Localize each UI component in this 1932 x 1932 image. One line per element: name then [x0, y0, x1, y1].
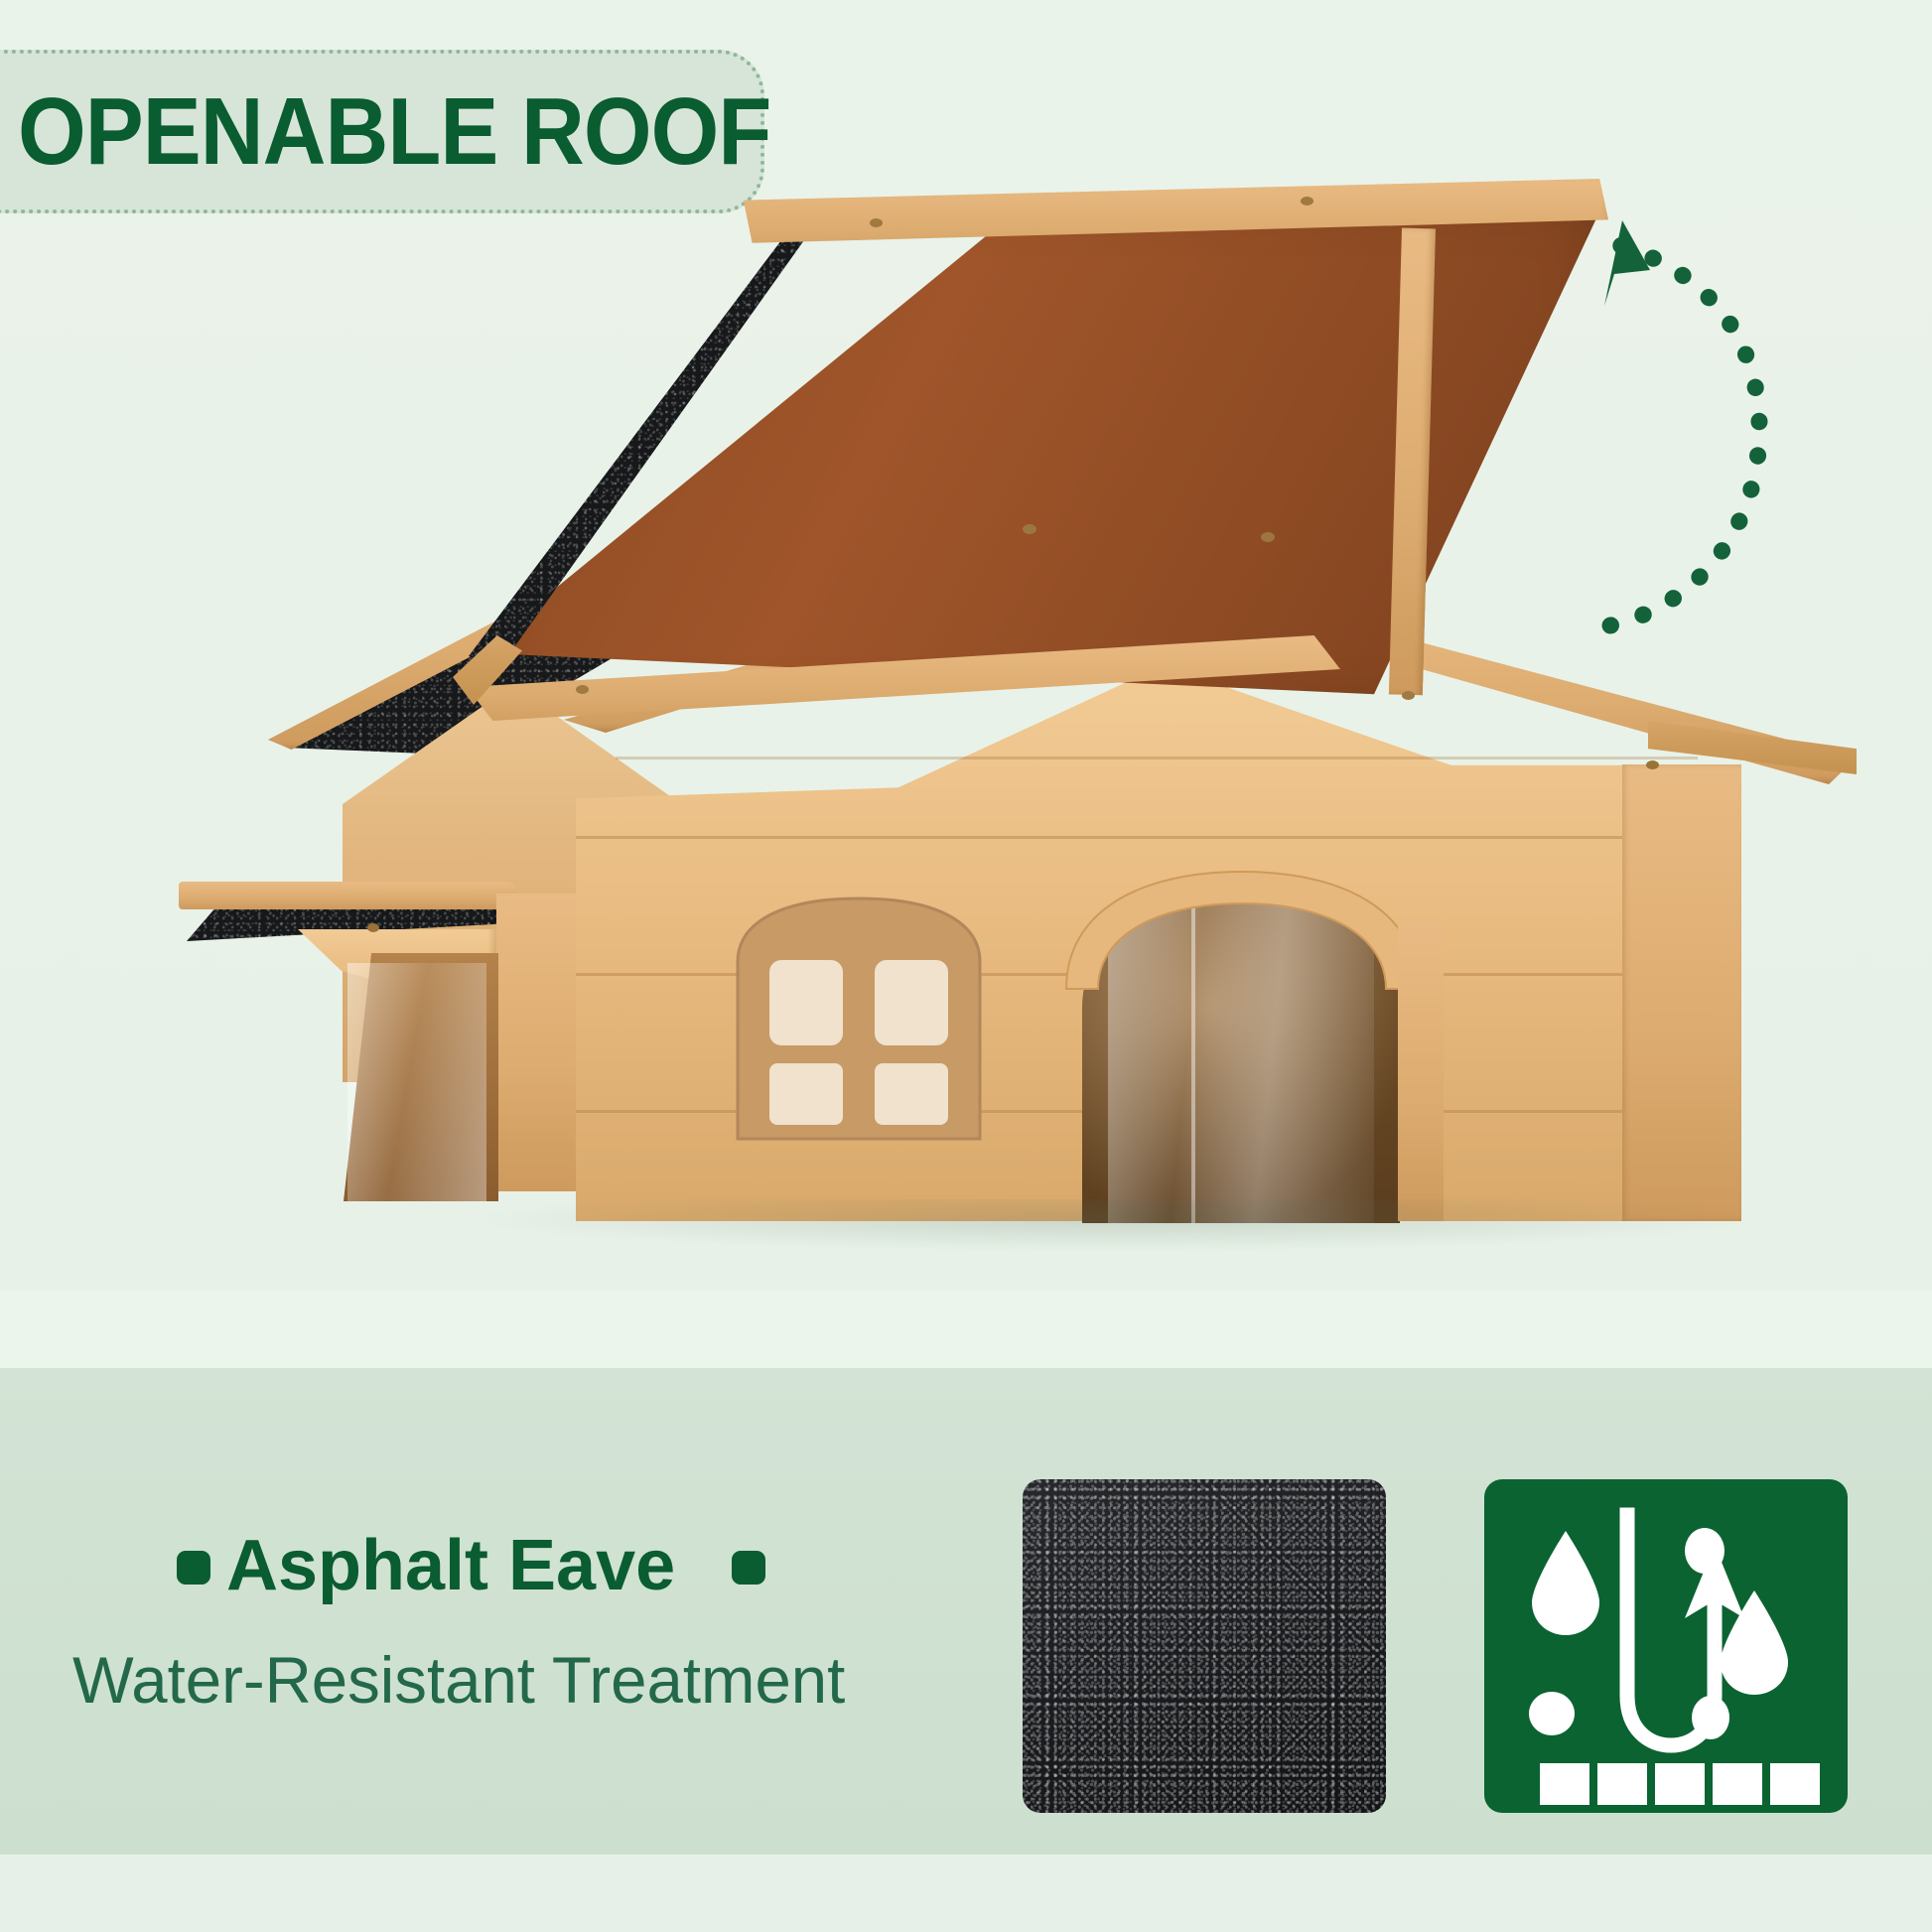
screw-head: [1301, 197, 1313, 206]
product-photo: [149, 169, 1837, 1301]
screw-head: [1646, 760, 1659, 769]
plank-seam: [576, 836, 1727, 839]
window-icon: [730, 889, 988, 1147]
house-right-side-panel: [1622, 764, 1741, 1221]
doorway-arch-frame: [1060, 864, 1424, 993]
side-eave-board: [179, 882, 516, 909]
water-resistant-icon: [1484, 1479, 1848, 1813]
feature-subtitle: Water-Resistant Treatment: [72, 1642, 845, 1718]
screw-head: [1261, 532, 1275, 542]
door-jamb-right: [1398, 923, 1444, 1221]
bullet-marker-left: [177, 1551, 210, 1585]
door-arch-icon: [1060, 864, 1424, 993]
background-band-foot: [0, 1855, 1932, 1932]
asphalt-granule-swatch: [1023, 1479, 1386, 1813]
screw-head: [870, 218, 883, 227]
marketing-image: OPENABLE ROOF: [0, 0, 1932, 1932]
side-plastic-flap: [347, 963, 486, 1201]
plank-seam: [616, 757, 1698, 759]
decorative-window: [730, 889, 988, 1147]
feature-title: Asphalt Eave: [226, 1525, 675, 1606]
water-resistant-icon-tile: [1484, 1479, 1848, 1813]
screw-head: [576, 685, 589, 694]
screw-head: [1402, 691, 1415, 700]
screw-head: [367, 923, 379, 932]
product-shadow: [477, 1199, 1747, 1251]
background-band-gap: [0, 1291, 1932, 1368]
screw-head: [1023, 524, 1036, 534]
bullet-marker-right: [732, 1551, 765, 1585]
